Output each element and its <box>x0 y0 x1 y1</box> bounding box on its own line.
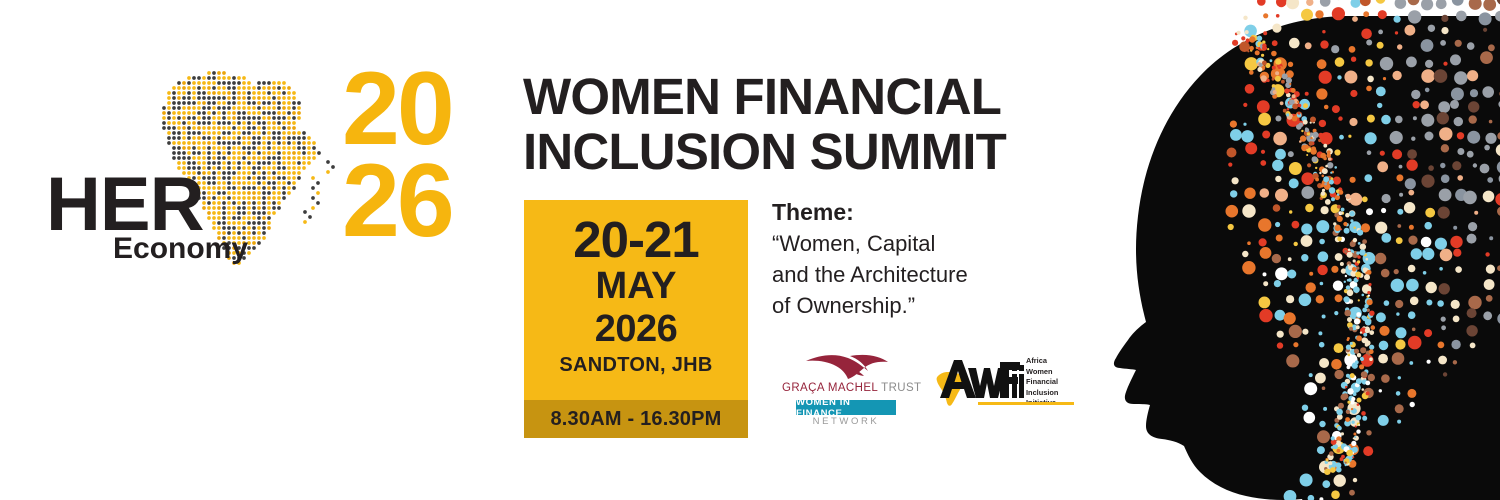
theme-line-3: of Ownership.” <box>772 290 1062 321</box>
theme-line-1: “Women, Capital <box>772 228 1062 259</box>
summit-title: WOMEN FINANCIAL INCLUSION SUMMIT <box>523 70 1093 179</box>
summit-title-line-2: INCLUSION SUMMIT <box>523 125 1093 180</box>
partner-logos: GRAÇA MACHEL TRUST WOMEN IN FINANCE NETW… <box>772 352 1082 432</box>
awfii-description: Africa Women Financial Inclusion Initiat… <box>1026 356 1058 409</box>
her-economy-logo: HER Economy <box>40 62 340 277</box>
gmt-women-in-finance-bar: WOMEN IN FINANCE <box>796 400 896 415</box>
event-date-card-body: 20-21 MAY 2026 SANDTON, JHB <box>524 200 748 380</box>
awfii-desc-line-2: Women <box>1026 367 1058 378</box>
logo-secondary-text: Economy <box>113 234 248 264</box>
theme-label: Theme: <box>772 198 1062 228</box>
event-days: 20-21 <box>524 214 748 265</box>
event-month: MAY <box>524 265 748 308</box>
theme-block: Theme: “Women, Capital and the Architect… <box>772 198 1062 322</box>
event-banner: HER Economy 20 26 WOMEN FINANCIAL INCLUS… <box>0 0 1500 500</box>
event-time: 8.30AM - 16.30PM <box>524 400 748 438</box>
graca-machel-trust-logo: GRAÇA MACHEL TRUST WOMEN IN FINANCE NETW… <box>782 352 910 430</box>
awfii-desc-line-4: Inclusion <box>1026 388 1058 399</box>
gmt-network-caption: NETWORK <box>782 416 910 427</box>
gmt-name-primary: GRAÇA MACHEL <box>782 382 878 394</box>
gmt-wordmark: GRAÇA MACHEL TRUST <box>782 382 910 394</box>
theme-line-2: and the Architecture <box>772 259 1062 290</box>
awfii-desc-line-3: Financial <box>1026 377 1058 388</box>
awfii-logo: Africa Women Financial Inclusion Initiat… <box>932 352 1082 424</box>
summit-title-line-1: WOMEN FINANCIAL <box>523 70 1093 125</box>
event-venue: SANDTON, JHB <box>524 350 748 380</box>
event-year-full: 2026 <box>524 308 748 351</box>
theme-statement: “Women, Capital and the Architecture of … <box>772 228 1062 322</box>
event-date-card: 20-21 MAY 2026 SANDTON, JHB 8.30AM - 16.… <box>524 200 748 438</box>
woman-profile-silhouette-icon <box>1088 0 1500 500</box>
bird-swoosh-icon <box>804 352 890 382</box>
event-year-bottom: 26 <box>342 156 502 248</box>
awfii-desc-line-1: Africa <box>1026 356 1058 367</box>
event-year-top: 20 <box>342 64 502 156</box>
awfii-underline <box>978 402 1074 405</box>
event-year: 20 26 <box>342 64 502 247</box>
gmt-name-secondary: TRUST <box>881 382 921 394</box>
